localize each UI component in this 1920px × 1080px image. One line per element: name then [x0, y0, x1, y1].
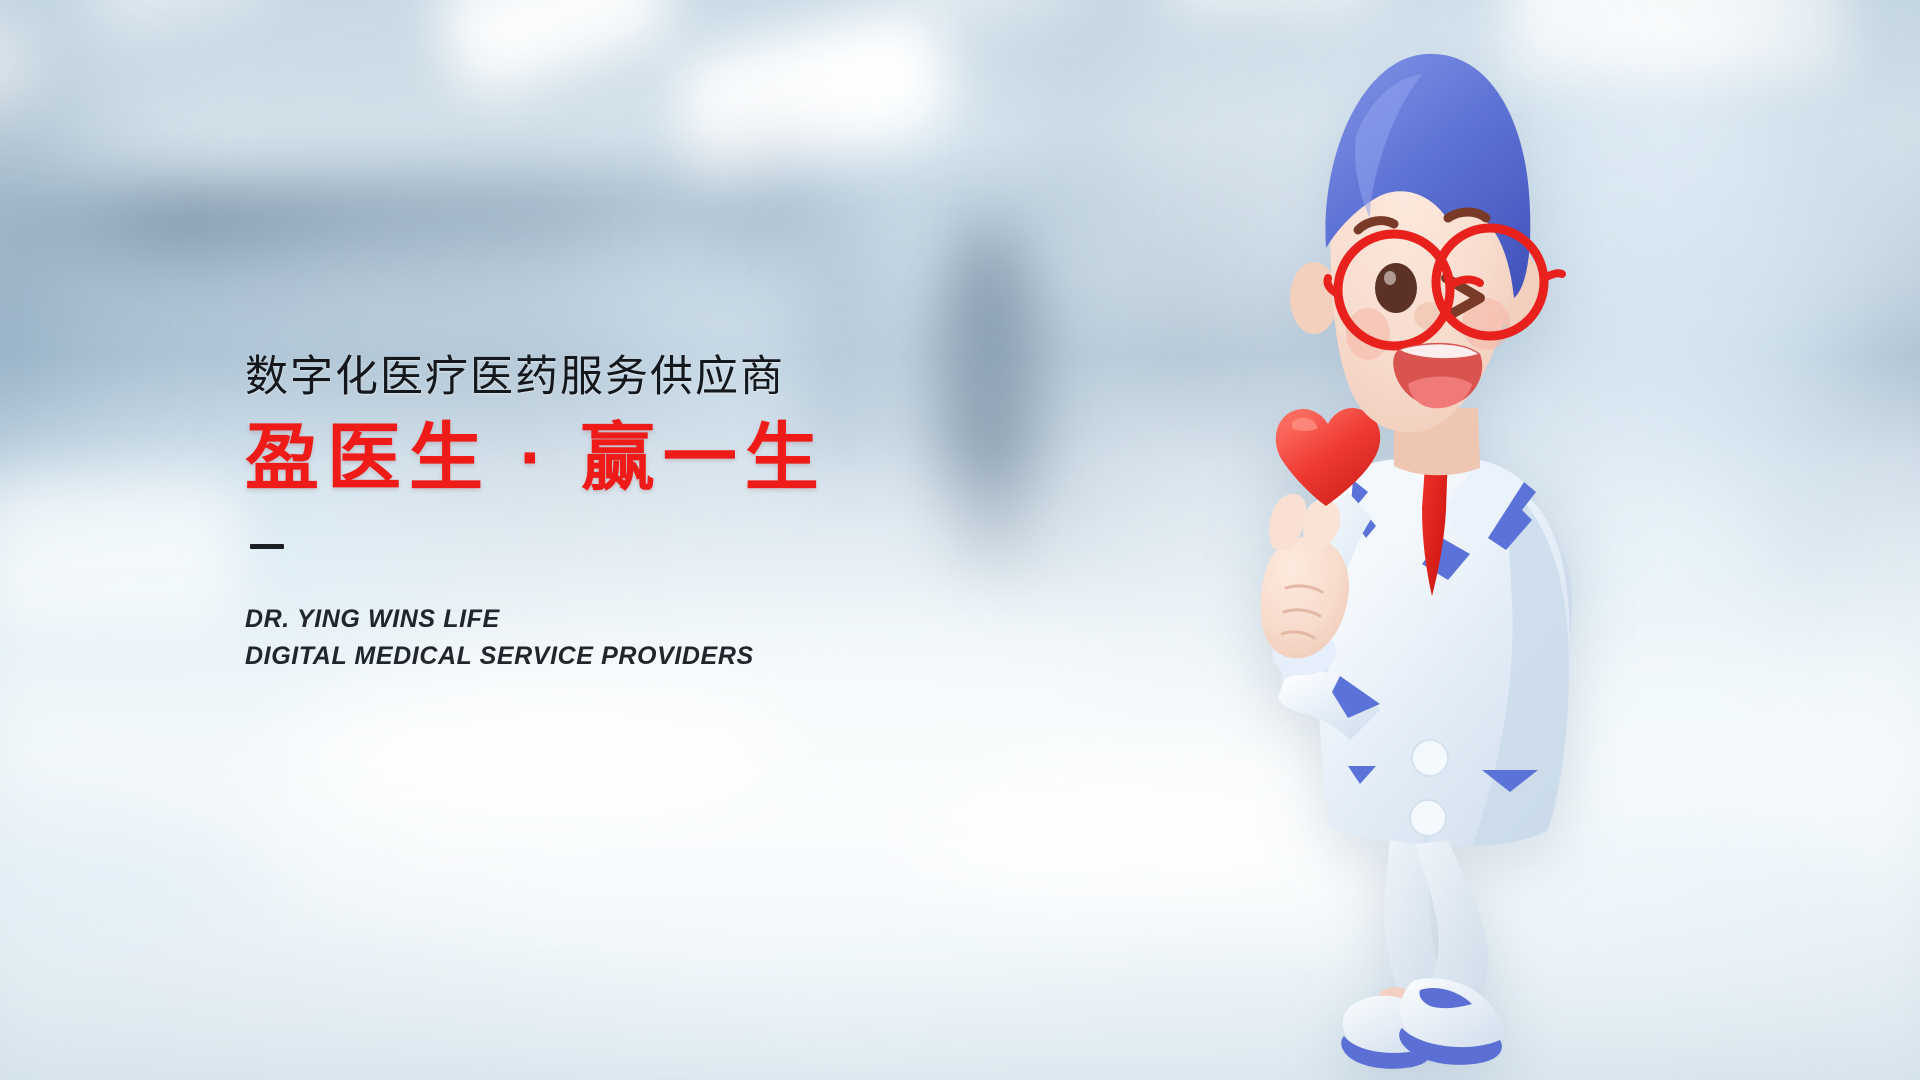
mascot-eye-open — [1375, 263, 1417, 313]
hero-kicker: 数字化医疗医药服务供应商 — [245, 352, 1065, 403]
mascot-eye-highlight — [1384, 271, 1396, 285]
mascot-coat-button-top — [1412, 740, 1448, 776]
hero-copy: 数字化医疗医药服务供应商 盈医生 · 赢一生 DR. YING WINS LIF… — [245, 352, 1065, 675]
mascot-ear-left — [1290, 262, 1338, 334]
hero-headline: 盈医生 · 赢一生 — [245, 417, 1065, 500]
divider-rule — [250, 544, 284, 549]
subtitle-line-2: DIGITAL MEDICAL SERVICE PROVIDERS — [245, 638, 1065, 675]
mascot-shoe-front — [1399, 978, 1504, 1065]
hero-subtitle: DR. YING WINS LIFE DIGITAL MEDICAL SERVI… — [245, 601, 1065, 675]
hero-banner: 数字化医疗医药服务供应商 盈医生 · 赢一生 DR. YING WINS LIF… — [0, 0, 1920, 1080]
mascot-doctor-illustration — [1180, 40, 1660, 1060]
mascot-coat-button-bottom — [1410, 800, 1446, 836]
subtitle-line-1: DR. YING WINS LIFE — [245, 601, 1065, 638]
